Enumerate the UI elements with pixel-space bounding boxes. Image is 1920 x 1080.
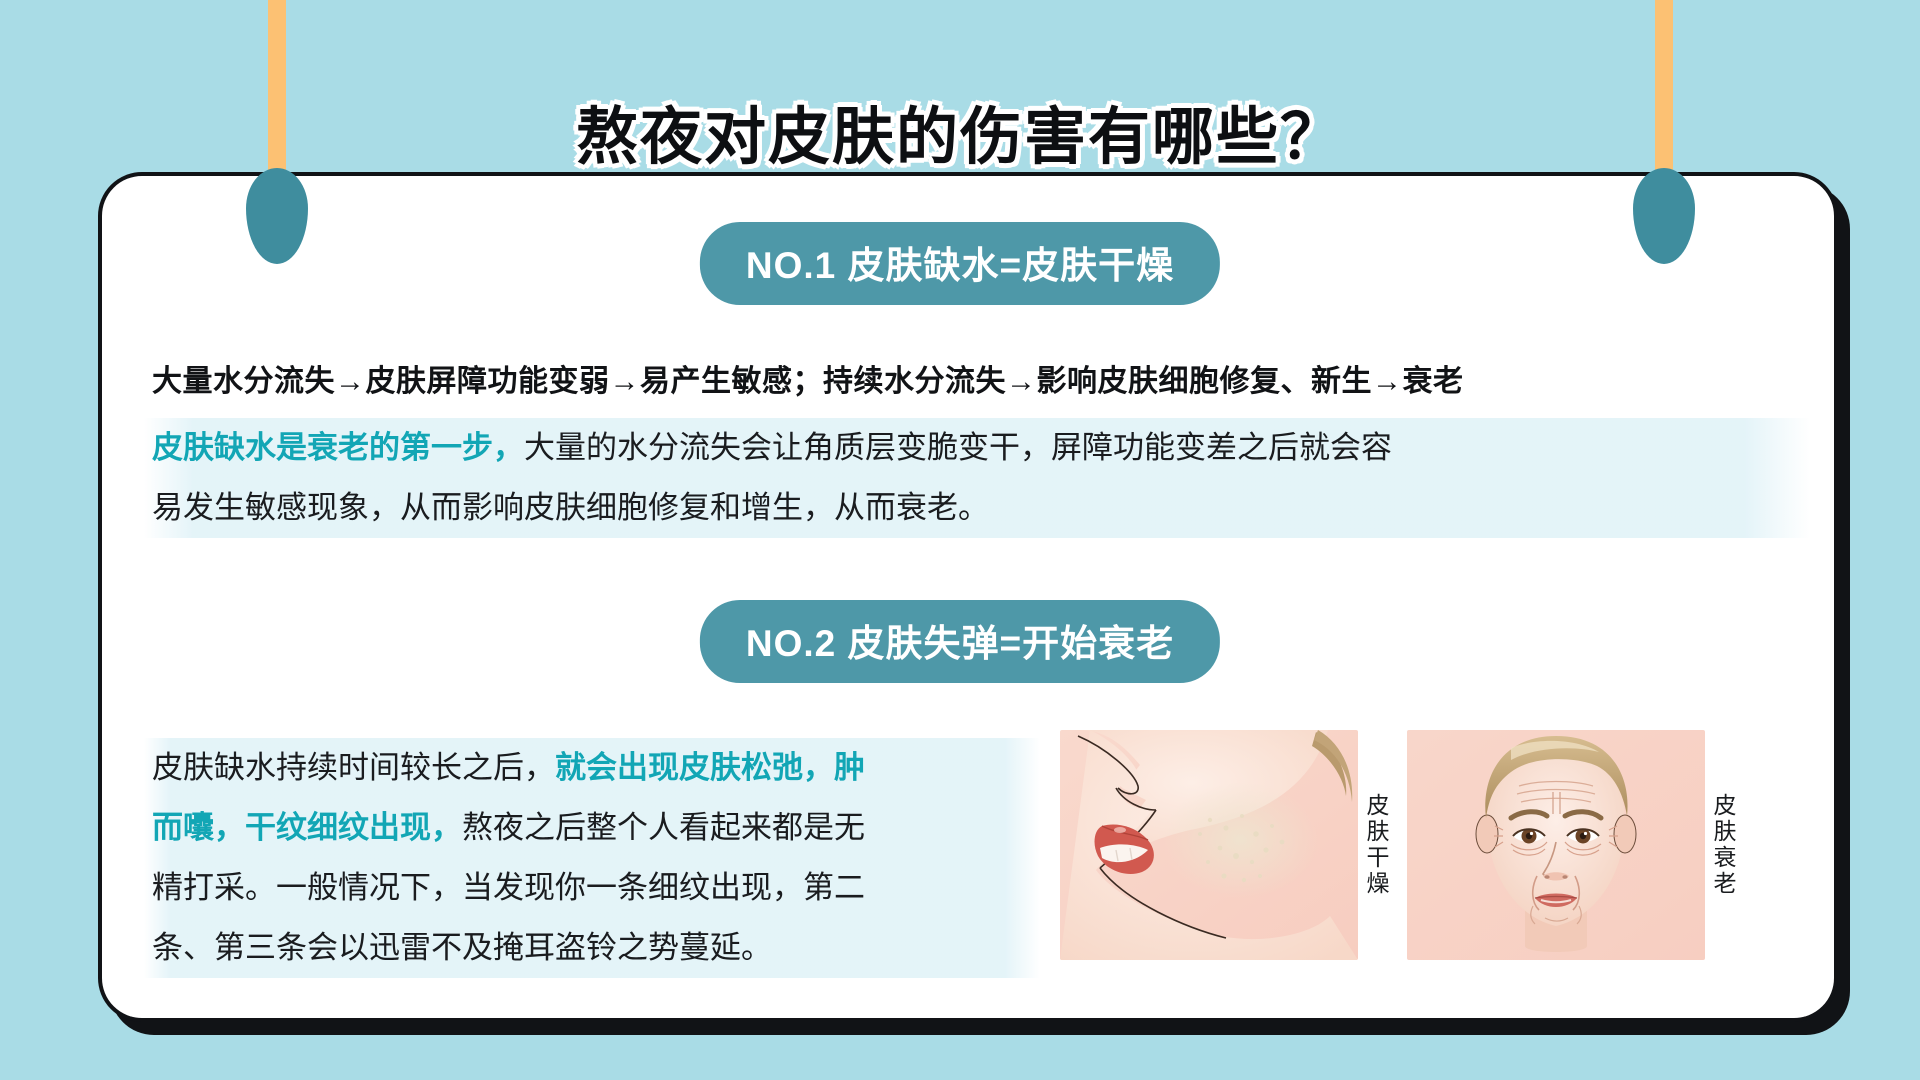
paragraph-line: 而囔，干纹细纹出现，熬夜之后整个人看起来都是无 xyxy=(144,798,1040,858)
paragraph-line: 皮肤缺水持续时间较长之后，就会出现皮肤松弛，肿 xyxy=(144,738,1040,798)
figure-aging-skin: 皮肤衰老 xyxy=(1407,730,1740,960)
plain-text: 易发生敏感现象，从而影响皮肤细胞修复和增生，从而衰老。 xyxy=(152,490,989,525)
plain-text: 精打采。一般情况下，当发现你一条细纹出现，第二 xyxy=(152,870,865,905)
page-title: 熬夜对皮肤的伤害有哪些？ xyxy=(0,86,1920,176)
figure-group: 皮肤干燥 xyxy=(1060,730,1740,960)
paragraph-line: 精打采。一般情况下，当发现你一条细纹出现，第二 xyxy=(144,858,1040,918)
section-1-body: 皮肤缺水是衰老的第一步，大量的水分流失会让角质层变脆变干，屏障功能变差之后就会容… xyxy=(152,418,1802,538)
highlight-text: 就会出现皮肤松弛，肿 xyxy=(555,750,865,785)
figure-dry-skin: 皮肤干燥 xyxy=(1060,730,1393,960)
photo-dry-skin xyxy=(1060,730,1358,960)
photo-aging-skin xyxy=(1407,730,1705,960)
section-2-body: 皮肤缺水持续时间较长之后，就会出现皮肤松弛，肿 而囔，干纹细纹出现，熬夜之后整个… xyxy=(152,738,1032,978)
dry-skin-illustration xyxy=(1060,730,1358,960)
highlight-text: 而囔，干纹细纹出现， xyxy=(152,810,462,845)
paragraph-line: 条、第三条会以迅雷不及掩耳盗铃之势蔓延。 xyxy=(144,918,1040,978)
plain-text: 熬夜之后整个人看起来都是无 xyxy=(462,810,865,845)
section-badge-no1: NO.1 皮肤缺水=皮肤干燥 xyxy=(700,222,1220,305)
paragraph-line: 皮肤缺水是衰老的第一步，大量的水分流失会让角质层变脆变干，屏障功能变差之后就会容 xyxy=(144,418,1810,478)
highlight-text: 皮肤缺水是衰老的第一步， xyxy=(152,430,524,465)
figure-caption-dry-skin: 皮肤干燥 xyxy=(1364,793,1387,897)
paragraph-line: 易发生敏感现象，从而影响皮肤细胞修复和增生，从而衰老。 xyxy=(144,478,1810,538)
section-1-lead-text: 大量水分流失→皮肤屏障功能变弱→易产生敏感；持续水分流失→影响皮肤细胞修复、新生… xyxy=(152,356,1792,400)
plain-text: 皮肤缺水持续时间较长之后， xyxy=(152,750,555,785)
plain-text: 大量的水分流失会让角质层变脆变干，屏障功能变差之后就会容 xyxy=(524,430,1392,465)
aging-skin-illustration xyxy=(1407,730,1705,960)
plain-text: 条、第三条会以迅雷不及掩耳盗铃之势蔓延。 xyxy=(152,930,772,965)
section-badge-no2: NO.2 皮肤失弹=开始衰老 xyxy=(700,600,1220,683)
figure-caption-aging-skin: 皮肤衰老 xyxy=(1711,793,1734,897)
